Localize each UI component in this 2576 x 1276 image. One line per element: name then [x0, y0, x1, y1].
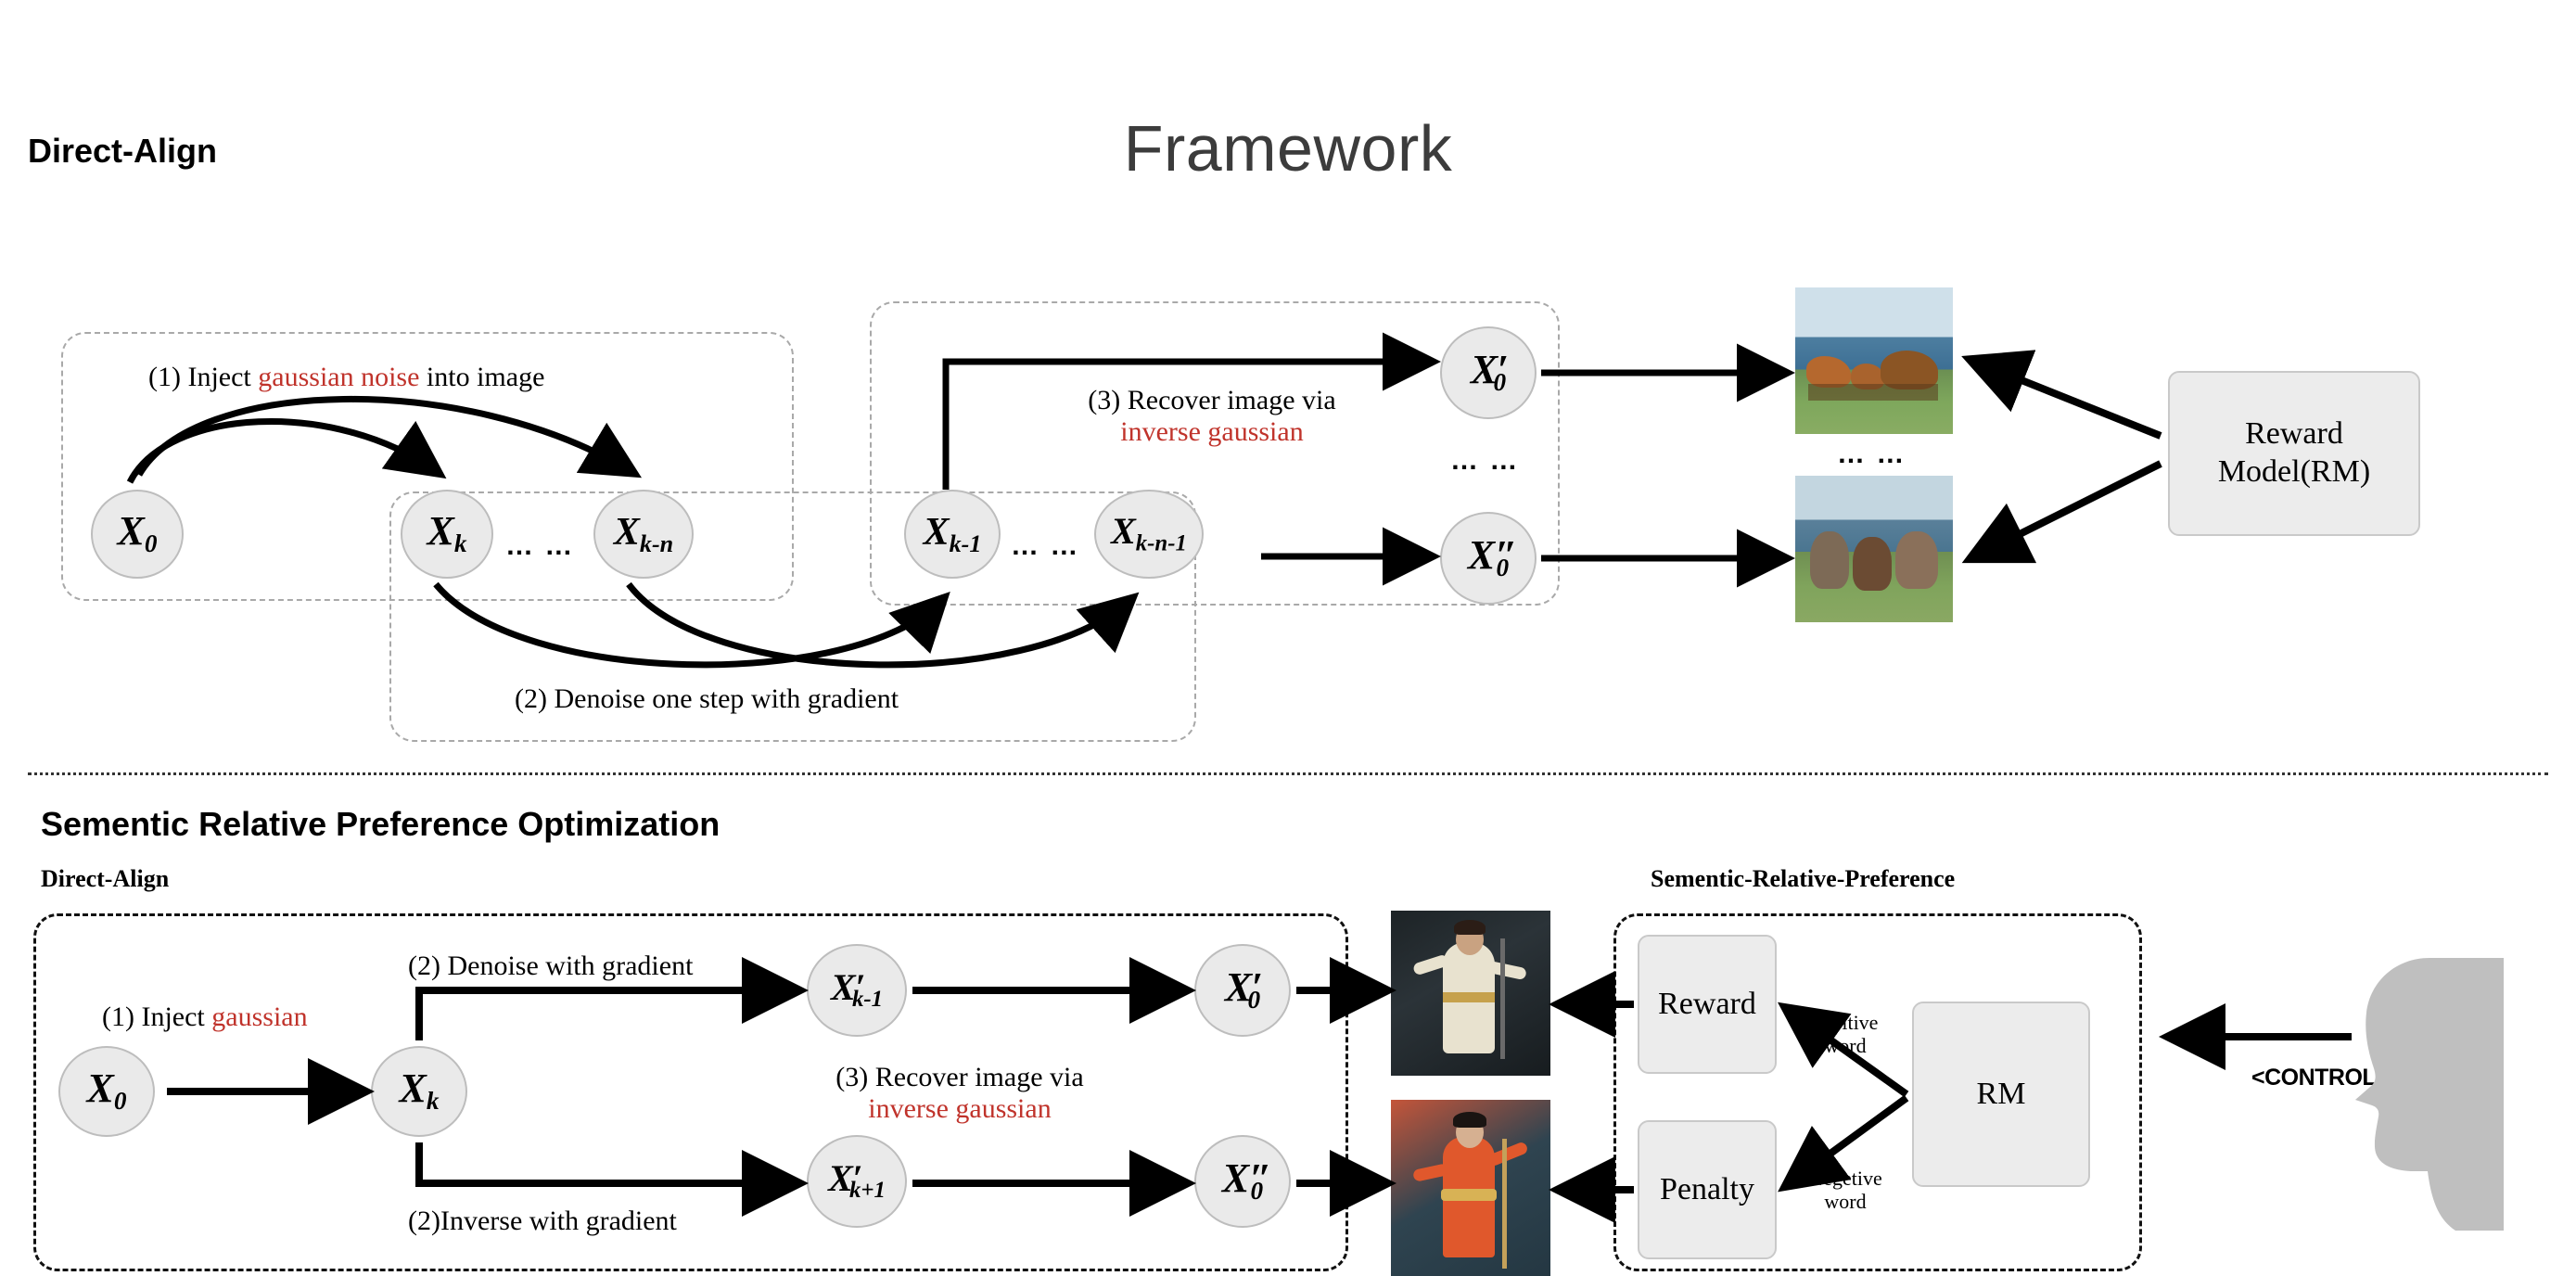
node-x0-bottom-label: X0 — [87, 1068, 127, 1114]
caption-step1-pre: (1) Inject — [148, 362, 258, 392]
caption-step3-bottom-red: inverse gaussian — [784, 1093, 1136, 1125]
caption-step1-bottom-red: gaussian — [211, 1002, 307, 1032]
arrow-rm-to-image-top — [1975, 362, 2161, 436]
cow-front-a — [1810, 531, 1849, 589]
reward-model-line2: Model(RM) — [2218, 453, 2370, 491]
node-xkn1-top-label: Xk-n-1 — [1111, 513, 1187, 555]
section-separator — [28, 772, 2548, 775]
node-xk-plus-1-prime-label: X′k+1 — [828, 1160, 886, 1203]
node-xk-top[interactable]: Xk — [401, 490, 493, 579]
node-xkn-top-label: Xk-n — [614, 513, 673, 556]
node-x0-dprime-top-label: X″0 — [1468, 535, 1509, 581]
node-xk-bottom-label: Xk — [400, 1068, 440, 1114]
cow-front-c — [1895, 531, 1938, 589]
subsection-label-srp: Sementic-Relative-Preference — [1651, 865, 1955, 893]
node-xk-minus-1-prime-label: X′k-1 — [831, 969, 883, 1012]
mic-stand — [1500, 938, 1505, 1059]
caption-step1-post: into image — [419, 362, 544, 392]
positive-word-line2: word — [1790, 1034, 1901, 1057]
node-xkn1-top[interactable]: Xk-n-1 — [1094, 490, 1204, 579]
cow-front-b — [1853, 537, 1892, 591]
negative-word-line2: word — [1790, 1190, 1901, 1213]
caption-step2-denoise-bottom: (2) Denoise with gradient — [408, 951, 693, 982]
node-xk1-top[interactable]: Xk-1 — [904, 490, 1001, 579]
caption-step1-red: gaussian noise — [258, 362, 419, 392]
caption-step3-top: (3) Recover image via inverse gaussian — [1040, 385, 1384, 448]
rm-box-label: RM — [1977, 1076, 2026, 1114]
node-x0-top[interactable]: X0 — [91, 490, 184, 579]
penalty-box[interactable]: Penalty — [1638, 1120, 1777, 1259]
node-xk-top-label: Xk — [427, 511, 467, 556]
reward-box[interactable]: Reward — [1638, 935, 1777, 1074]
node-xk-minus-1-prime[interactable]: X′k-1 — [807, 944, 907, 1037]
node-x0-prime-top-label: X′0 — [1471, 350, 1506, 395]
reward-box-label: Reward — [1658, 986, 1756, 1024]
positive-word-label: Positive word — [1790, 1011, 1901, 1058]
control-token-label: <CONTROL> — [2251, 1065, 2389, 1091]
elvis-white-hair — [1454, 920, 1486, 935]
ellipsis-top-c: … … — [1450, 445, 1519, 477]
node-xk1-top-label: Xk-1 — [924, 513, 982, 556]
elvis-orange-arm-right — [1486, 1141, 1529, 1168]
ellipsis-top-a: … … — [505, 530, 574, 562]
elvis-orange-belt — [1441, 1189, 1497, 1201]
arrow-rm-to-image-bottom — [1975, 464, 2161, 556]
caption-step3-line1: (3) Recover image via — [1040, 385, 1384, 416]
cow-legs — [1808, 384, 1938, 401]
section-heading-direct-align: Direct-Align — [28, 132, 217, 171]
node-x0-dprime-bottom-label: X″0 — [1222, 1158, 1263, 1204]
cow-shape-a — [1806, 356, 1851, 388]
caption-step3-red: inverse gaussian — [1040, 416, 1384, 448]
node-xk-plus-1-prime[interactable]: X′k+1 — [807, 1135, 907, 1228]
user-head-silhouette-icon — [2355, 958, 2504, 1231]
image-elvis-white-suit — [1391, 911, 1550, 1076]
node-x0-top-label: X0 — [118, 511, 158, 556]
subsection-label-direct-align: Direct-Align — [41, 865, 169, 893]
reward-model-line1: Reward — [2218, 415, 2370, 453]
penalty-box-label: Penalty — [1660, 1171, 1754, 1209]
positive-word-line1: Positive — [1790, 1011, 1901, 1034]
caption-step1-top: (1) Inject gaussian noise into image — [148, 362, 544, 393]
caption-step3-bottom-line1: (3) Recover image via — [784, 1062, 1136, 1093]
node-xkn-top[interactable]: Xk-n — [593, 490, 694, 579]
caption-step2-top: (2) Denoise one step with gradient — [515, 683, 899, 715]
node-x0-prime-bottom[interactable]: X′0 — [1194, 944, 1291, 1037]
caption-step1-bottom: (1) Inject gaussian — [102, 1002, 308, 1033]
elvis-white-belt — [1443, 992, 1495, 1002]
node-x0-dprime-top[interactable]: X″0 — [1440, 512, 1537, 605]
negative-word-label: Negetive word — [1790, 1167, 1901, 1214]
caption-step1-bottom-pre: (1) Inject — [102, 1002, 211, 1032]
caption-step3-bottom: (3) Recover image via inverse gaussian — [784, 1062, 1136, 1125]
reward-model-box[interactable]: Reward Model(RM) — [2168, 371, 2420, 536]
node-x0-prime-top[interactable]: X′0 — [1440, 326, 1537, 419]
caption-step2-inverse-bottom: (2)Inverse with gradient — [408, 1206, 677, 1237]
image-cows-facing — [1795, 476, 1953, 622]
ellipsis-top-b: … … — [1011, 530, 1079, 562]
page-title: Framework — [0, 111, 2576, 185]
ellipsis-images-top: … … — [1837, 439, 1906, 470]
rm-box[interactable]: RM — [1912, 1002, 2090, 1187]
elvis-orange-hair — [1453, 1112, 1486, 1128]
node-x0-dprime-bottom[interactable]: X″0 — [1194, 1135, 1291, 1228]
node-x0-bottom[interactable]: X0 — [58, 1046, 155, 1137]
image-elvis-orange-suit — [1391, 1100, 1550, 1276]
negative-word-line1: Negetive — [1790, 1167, 1901, 1190]
section-heading-srpo: Sementic Relative Preference Optimizatio… — [41, 805, 720, 844]
node-x0-prime-bottom-label: X′0 — [1225, 967, 1260, 1013]
mic-stand-orange — [1502, 1139, 1507, 1269]
image-cows-grazing — [1795, 287, 1953, 434]
node-xk-bottom[interactable]: Xk — [371, 1046, 467, 1137]
